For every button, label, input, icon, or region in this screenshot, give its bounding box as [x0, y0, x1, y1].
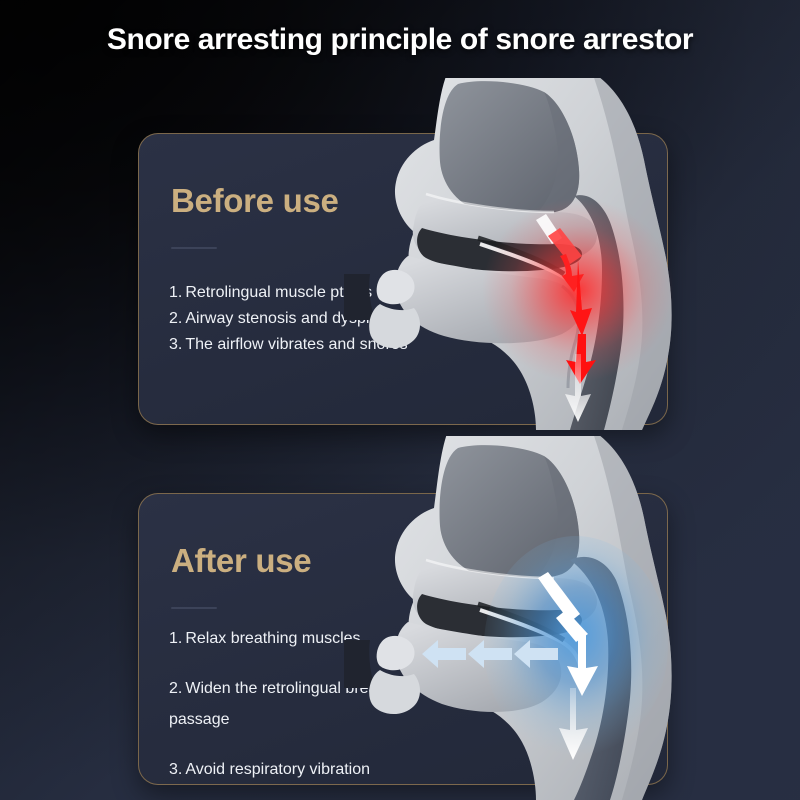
card-before-use: Before use 1.Retrolingual muscle ptosis …	[138, 133, 668, 425]
list-item-text: Widen the retrolingual breath passage	[169, 680, 391, 727]
list-item-number: 1.	[169, 284, 182, 301]
list-item-number: 2.	[169, 310, 182, 327]
card-before-divider	[171, 247, 217, 249]
card-before-list: 1.Retrolingual muscle ptosis 2.Airway st…	[169, 284, 408, 362]
list-item: 1.Relax breathing muscles	[169, 624, 437, 654]
list-item-text: Avoid respiratory vibration	[185, 761, 370, 778]
list-item: 2.Widen the retrolingual breath passage	[169, 674, 437, 735]
card-before-heading: Before use	[171, 182, 339, 220]
infographic-page: Snore arresting principle of snore arres…	[0, 0, 800, 800]
card-after-list: 1.Relax breathing muscles 2.Widen the re…	[169, 624, 437, 800]
list-item-text: The airflow vibrates and snores	[185, 336, 407, 353]
list-item-text: Airway stenosis and dyspnea	[185, 310, 392, 327]
list-item: 2.Airway stenosis and dyspnea	[169, 310, 408, 328]
list-item-number: 2.	[169, 680, 182, 697]
page-title: Snore arresting principle of snore arres…	[0, 23, 800, 57]
list-item: 1.Retrolingual muscle ptosis	[169, 284, 408, 302]
list-item-number: 3.	[169, 761, 182, 778]
list-item-number: 1.	[169, 630, 182, 647]
list-item: 3.Avoid respiratory vibration	[169, 755, 437, 785]
card-after-heading: After use	[171, 542, 311, 580]
list-item: 3.The airflow vibrates and snores	[169, 336, 408, 354]
card-after-divider	[171, 607, 217, 609]
list-item-number: 3.	[169, 336, 182, 353]
card-after-use: After use 1.Relax breathing muscles 2.Wi…	[138, 493, 668, 785]
list-item-text: Relax breathing muscles	[185, 630, 360, 647]
list-item-text: Retrolingual muscle ptosis	[185, 284, 372, 301]
